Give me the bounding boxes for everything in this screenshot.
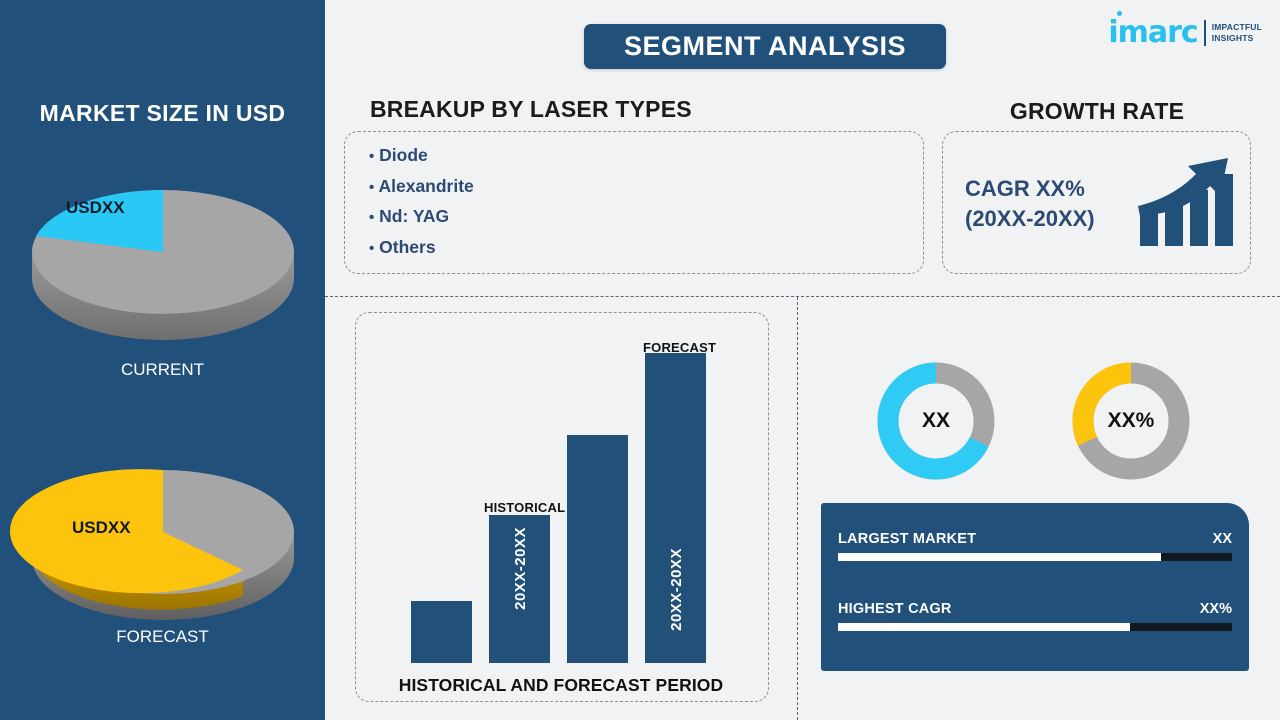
- market-value-donut: XX: [877, 362, 995, 480]
- list-item-label: Others: [379, 237, 435, 257]
- list-item: • Nd: YAG: [369, 202, 474, 233]
- logo-divider: [1204, 20, 1206, 46]
- growth-heading: GROWTH RATE: [942, 98, 1252, 125]
- page-title: SEGMENT ANALYSIS: [584, 24, 946, 69]
- bar-4-period-label: 20XX-20XX: [668, 548, 685, 631]
- highest-cagr-label: HIGHEST CAGR: [838, 601, 952, 617]
- bullet-dot-icon: •: [369, 209, 374, 226]
- largest-market-progress-fill: [838, 553, 1161, 561]
- cagr-value: CAGR XX%: [965, 174, 1095, 204]
- growth-box: CAGR XX% (20XX-20XX): [942, 131, 1251, 274]
- vertical-divider: [797, 297, 798, 720]
- logo-tagline-line1: IMPACTFUL: [1212, 22, 1262, 33]
- bullet-dot-icon: •: [369, 148, 374, 165]
- logo-tagline-line2: INSIGHTS: [1212, 33, 1262, 44]
- highest-cagr-value: XX%: [1200, 601, 1232, 617]
- bar-3: [567, 435, 628, 663]
- bullet-dot-icon: •: [369, 179, 374, 196]
- current-pie-chart: USDXX: [0, 160, 325, 345]
- forecast-pie-chart: USDXX: [0, 440, 325, 625]
- market-size-sidebar: MARKET SIZE IN USD USDXX CURRENT: [0, 0, 325, 720]
- breakup-list: • Diode • Alexandrite • Nd: YAG • Others: [369, 141, 474, 264]
- highest-cagr-progress-fill: [838, 623, 1130, 631]
- share-percent-donut-label: XX%: [1094, 384, 1168, 458]
- list-item-label: Alexandrite: [378, 176, 473, 196]
- current-caption: CURRENT: [0, 360, 325, 380]
- sidebar-title: MARKET SIZE IN USD: [0, 100, 325, 127]
- imarc-logo: imarc IMPACTFUL INSIGHTS: [1108, 12, 1262, 54]
- list-item-label: Nd: YAG: [379, 206, 449, 226]
- bar-chart-caption: HISTORICAL AND FORECAST PERIOD: [355, 675, 767, 696]
- breakup-heading: BREAKUP BY LASER TYPES: [370, 96, 692, 123]
- list-item: • Others: [369, 233, 474, 264]
- bar-1: [411, 601, 472, 663]
- market-value-donut-label: XX: [899, 384, 973, 458]
- cagr-text: CAGR XX% (20XX-20XX): [965, 174, 1095, 234]
- largest-market-value: XX: [1213, 531, 1232, 547]
- horizontal-divider: [325, 296, 1280, 297]
- list-item-label: Diode: [379, 145, 428, 165]
- bar-2-period-label: 20XX-20XX: [512, 527, 529, 610]
- forecast-pie-svg: [0, 440, 325, 620]
- list-item: • Alexandrite: [369, 172, 474, 203]
- list-item: • Diode: [369, 141, 474, 172]
- logo-wordmark: imarc: [1108, 18, 1197, 48]
- breakup-box: • Diode • Alexandrite • Nd: YAG • Others: [344, 131, 924, 274]
- metrics-panel: LARGEST MARKET XX HIGHEST CAGR XX%: [821, 503, 1249, 671]
- share-percent-donut: XX%: [1072, 362, 1190, 480]
- bullet-dot-icon: •: [369, 240, 374, 257]
- historical-label: HISTORICAL: [484, 500, 565, 515]
- current-pie-svg: [0, 160, 325, 340]
- largest-market-progress-track: [838, 553, 1232, 561]
- forecast-caption: FORECAST: [0, 627, 325, 647]
- forecast-label: FORECAST: [643, 340, 716, 355]
- largest-market-label: LARGEST MARKET: [838, 531, 976, 547]
- logo-word-rest: marc: [1118, 15, 1198, 50]
- logo-word-i: i: [1108, 15, 1117, 50]
- logo-tagline: IMPACTFUL INSIGHTS: [1212, 22, 1262, 43]
- cagr-period: (20XX-20XX): [965, 204, 1095, 234]
- highest-cagr-progress-track: [838, 623, 1232, 631]
- growth-arrow-bars-icon: [1136, 154, 1236, 255]
